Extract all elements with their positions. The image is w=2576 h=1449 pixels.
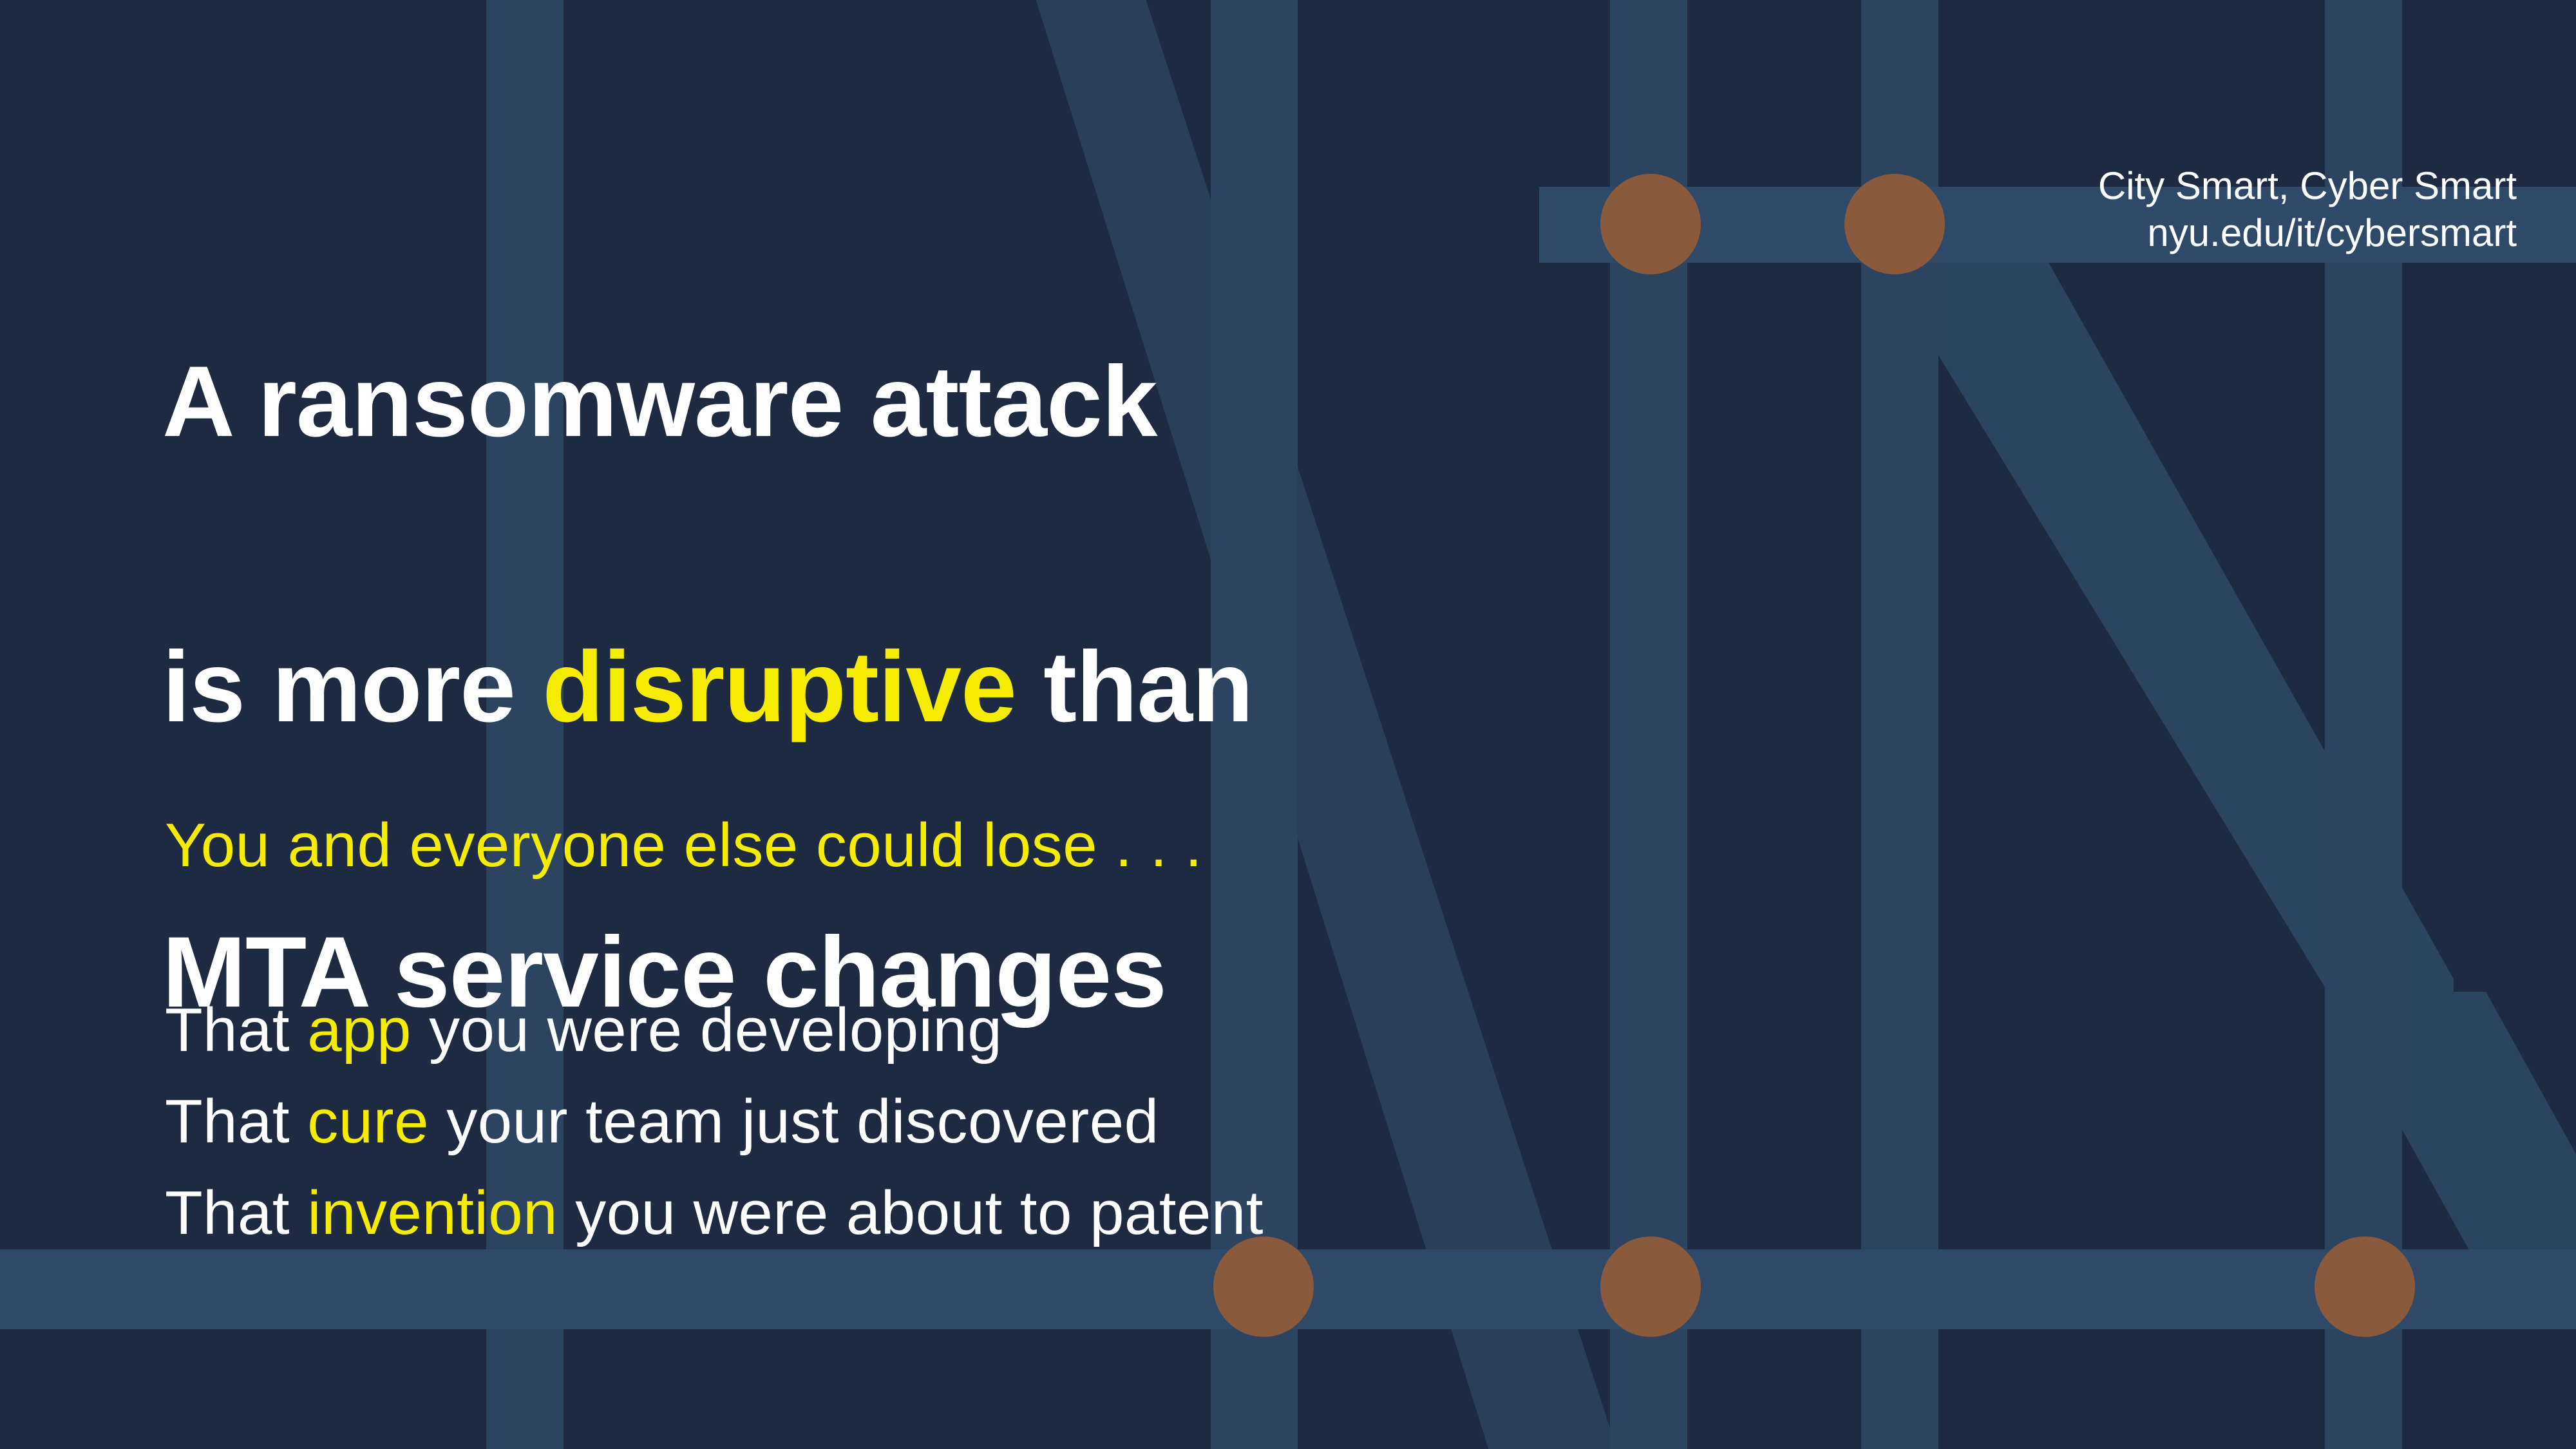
headline-line-1: A ransomware attack xyxy=(162,331,1901,474)
station-dot xyxy=(2315,1236,2415,1337)
headline-accent-disruptive: disruptive xyxy=(542,631,1016,743)
tagline: City Smart, Cyber Smart nyu.edu/it/cyber… xyxy=(2098,162,2517,256)
tagline-campaign-name: City Smart, Cyber Smart xyxy=(2098,162,2517,209)
lede-text: You and everyone else could lose . . . xyxy=(165,810,1202,881)
loss-item-cure-accent: cure xyxy=(307,1087,429,1156)
loss-item-invention-suffix: you were about to patent xyxy=(558,1179,1264,1247)
loss-item-app-prefix: That xyxy=(165,996,307,1065)
headline-line-2-prefix: is more xyxy=(162,631,542,743)
station-dot xyxy=(1600,1236,1701,1337)
tagline-url[interactable]: nyu.edu/it/cybersmart xyxy=(2098,209,2517,256)
loss-item-app-suffix: you were developing xyxy=(412,996,1002,1065)
loss-item-invention-accent: invention xyxy=(307,1179,558,1247)
slide-canvas: A ransomware attack is more disruptive t… xyxy=(0,0,2576,1449)
loss-item-cure-suffix: your team just discovered xyxy=(429,1087,1159,1156)
headline-line-2: is more disruptive than xyxy=(162,616,1901,759)
loss-list: That app you were developing That cure y… xyxy=(165,985,1264,1259)
headline-line-2-suffix: than xyxy=(1016,631,1253,743)
loss-item-cure: That cure your team just discovered xyxy=(165,1076,1264,1168)
loss-item-invention: That invention you were about to patent xyxy=(165,1168,1264,1259)
loss-item-app: That app you were developing xyxy=(165,985,1264,1076)
loss-item-cure-prefix: That xyxy=(165,1087,307,1156)
loss-item-app-accent: app xyxy=(307,996,412,1065)
loss-item-invention-prefix: That xyxy=(165,1179,307,1247)
